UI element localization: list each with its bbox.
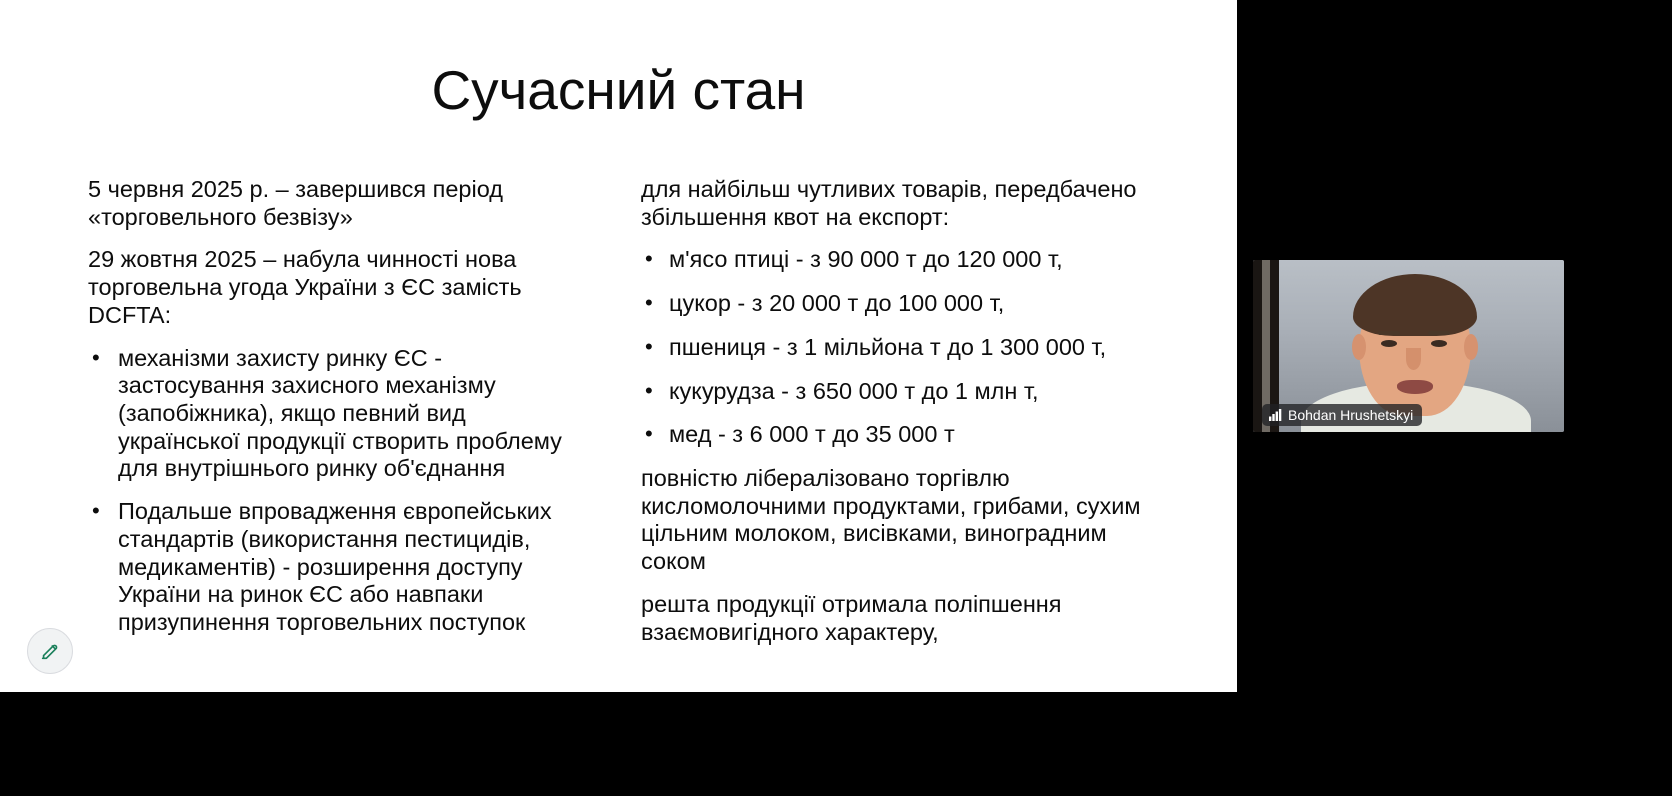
participant-eyebrow-left — [1378, 331, 1400, 335]
participant-video-tile[interactable]: Bohdan Hrushetskyi — [1253, 260, 1564, 432]
right-bullet-list: м'ясо птиці - з 90 000 т до 120 000 т, ц… — [641, 246, 1161, 449]
slide-right-column: для найбільш чутливих товарів, передбаче… — [641, 176, 1161, 661]
right-bullet-item-honey: мед - з 6 000 т до 35 000 т — [641, 421, 1161, 449]
left-bullet-item-2: Подальше впровадження європейських станд… — [88, 498, 593, 637]
right-intro-paragraph: для найбільш чутливих товарів, передбаче… — [641, 176, 1161, 231]
slide-title: Сучасний стан — [0, 60, 1237, 121]
right-paragraph-1: повністю лібералізовано торгівлю кисломо… — [641, 465, 1161, 576]
left-bullet-list: механізми захисту ринку ЄС - застосуванн… — [88, 345, 593, 637]
participant-ear-right — [1464, 334, 1478, 360]
signal-strength-icon — [1269, 409, 1282, 421]
annotate-pen-button[interactable] — [27, 628, 73, 674]
meeting-screen-share-view: Сучасний стан 5 червня 2025 р. – заверши… — [0, 0, 1672, 796]
left-paragraph-2: 29 жовтня 2025 – набула чинності нова то… — [88, 246, 593, 329]
participant-nose — [1406, 348, 1421, 370]
participant-mouth — [1397, 380, 1433, 394]
participant-name-label: Bohdan Hrushetskyi — [1288, 404, 1413, 426]
participant-eye-left — [1381, 340, 1397, 347]
right-bullet-item-wheat: пшениця - з 1 мільйона т до 1 300 000 т, — [641, 334, 1161, 362]
right-bullet-item-corn: кукурудза - з 650 000 т до 1 млн т, — [641, 378, 1161, 406]
participant-name-badge: Bohdan Hrushetskyi — [1262, 404, 1422, 426]
slide-left-column: 5 червня 2025 р. – завершився період «то… — [88, 176, 593, 661]
left-bullet-item-1: механізми захисту ринку ЄС - застосуванн… — [88, 345, 593, 484]
participant-ear-left — [1352, 334, 1366, 360]
right-bullet-item-poultry: м'ясо птиці - з 90 000 т до 120 000 т, — [641, 246, 1161, 274]
right-paragraph-2: решта продукції отримала поліпшення взає… — [641, 591, 1161, 646]
right-bullet-item-sugar: цукор - з 20 000 т до 100 000 т, — [641, 290, 1161, 318]
participant-eyebrow-right — [1428, 331, 1450, 335]
left-paragraph-1: 5 червня 2025 р. – завершився період «то… — [88, 176, 593, 231]
slide-body: 5 червня 2025 р. – завершився період «то… — [88, 176, 1168, 661]
pen-icon — [39, 640, 61, 662]
video-background-strip-dark-left — [1253, 260, 1262, 432]
participant-eye-right — [1431, 340, 1447, 347]
shared-slide: Сучасний стан 5 червня 2025 р. – заверши… — [0, 0, 1237, 692]
letterbox-bottom — [0, 692, 1237, 796]
